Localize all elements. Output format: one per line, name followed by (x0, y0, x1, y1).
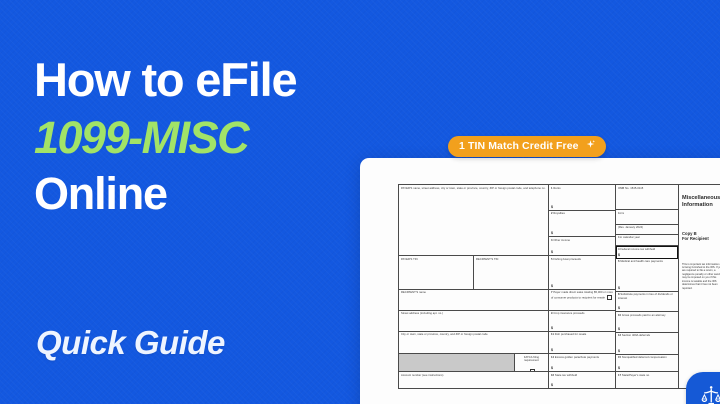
box-11-label: Fish purchased for resale (555, 333, 587, 336)
box-3-currency: $ (551, 250, 553, 254)
box-5-fishing-boat-proceeds[interactable]: 5 Fishing boat proceeds $ (549, 256, 615, 290)
box-16-number: 16 (551, 374, 554, 377)
headline-line-3: Online (34, 171, 394, 216)
box-12-number: 12 (618, 334, 621, 337)
payer-block-label: PAYER'S name, street address, city or to… (401, 187, 546, 190)
headline-line-1: How to eFile (34, 56, 394, 103)
form-prefix-label: Form (618, 212, 676, 215)
recipient-tin-label: RECIPIENT'S TIN (476, 258, 546, 261)
box-15-nonqualified-deferred-comp[interactable]: 15 Nonqualified deferred compensation $ (616, 355, 678, 373)
box-4-label: Federal income tax withheld (620, 248, 655, 251)
payer-tin-label: PAYER'S TIN (401, 258, 471, 261)
for-recipient-label: For Recipient (682, 236, 720, 241)
city-line-label: City or town, state or province, country… (401, 333, 546, 336)
payer-tin-cell[interactable]: PAYER'S TIN (399, 256, 474, 289)
recipient-tin-cell[interactable]: RECIPIENT'S TIN (474, 256, 548, 289)
box-9-crop-insurance[interactable]: 9 Crop insurance proceeds $ (549, 311, 615, 332)
street-address-label: Street address (including apt. no.) (401, 312, 546, 315)
box-5-label: Fishing boat proceeds (553, 258, 581, 261)
revision-label: (Rev. January 2024) (618, 226, 676, 229)
box-3-other-income[interactable]: 3 Other income $ (549, 237, 615, 256)
box-9-currency: $ (551, 326, 553, 330)
tin-match-credit-badge[interactable]: 1 TIN Match Credit Free (448, 136, 606, 157)
form-1099-misc: PAYER'S name, street address, city or to… (398, 184, 720, 394)
box-5-currency: $ (551, 284, 553, 288)
recipient-name-label: RECIPIENT'S name (401, 291, 546, 294)
sparkle-icon (586, 140, 595, 152)
box-6-label: Medical and health care payments (620, 260, 663, 263)
notice-stack: Miscellaneous Information Copy B For Rec… (679, 185, 720, 291)
box-15-label: Nonqualified deferred compensation (622, 356, 667, 359)
box-14-currency: $ (551, 366, 553, 370)
street-address-cell[interactable]: Street address (including apt. no.) (399, 311, 548, 332)
box-7-direct-sales[interactable]: 7 Payer made direct sales totaling $5,00… (549, 290, 615, 311)
badge-label: 1 TIN Match Credit Free (459, 140, 579, 152)
form-column-right: OMB No. 1545-0115 Form 1099-MISC (Rev. J… (616, 185, 679, 388)
account-number-cell[interactable]: Account number (see instructions) (399, 372, 548, 388)
box-8-label: Substitute payments in lieu of dividends… (618, 293, 673, 299)
box-11-fish-purchased[interactable]: 11 Fish purchased for resale $ (549, 332, 615, 355)
box-10-number: 10 (618, 314, 621, 317)
miscellaneous-information-title: Miscellaneous Information (682, 195, 720, 209)
headline-line-2-form-number: 1099-MISC (34, 115, 394, 160)
box-7-label: Payer made direct sales totaling $5,000 … (551, 291, 613, 299)
box-2-currency: $ (551, 231, 553, 235)
box-10-label: Gross proceeds paid to an attorney (622, 314, 666, 317)
box-7-checkbox[interactable] (607, 295, 612, 300)
form-column-middle: 1 Rents $ 2 Royalties $ 3 Other income $ (549, 185, 616, 388)
subtitle-quick-guide: Quick Guide (36, 324, 225, 362)
box-14-label: Excess golden parachute payments (555, 356, 599, 359)
tin-row: PAYER'S TIN RECIPIENT'S TIN (399, 256, 548, 290)
box-16-state-tax-withheld[interactable]: 16 State tax withheld $ (549, 372, 615, 388)
city-state-zip-cell[interactable]: City or town, state or province, country… (399, 332, 548, 355)
box-14-golden-parachute[interactable]: 14 Excess golden parachute payments $ (549, 354, 615, 372)
recipient-notice-text: This is important tax information and is… (682, 263, 720, 291)
box-11-currency: $ (551, 348, 553, 352)
box-4-federal-income-tax-withheld[interactable]: 4 Federal income tax withheld $ (616, 246, 678, 259)
calendar-year-cell[interactable]: For calendar year (616, 235, 678, 247)
recipient-name-cell[interactable]: RECIPIENT'S name (399, 290, 548, 311)
box-10-attorney-proceeds[interactable]: 10 Gross proceeds paid to an attorney $ (616, 312, 678, 332)
box-15-number: 15 (618, 356, 621, 359)
box-6-currency: $ (618, 286, 620, 290)
box-16-label: State tax withheld (555, 374, 577, 377)
shaded-filler (399, 354, 514, 371)
irs-seal-logo (686, 372, 720, 404)
box-8-substitute-payments[interactable]: 8 Substitute payments in lieu of dividen… (616, 292, 678, 312)
box-8-currency: $ (618, 306, 620, 310)
box-10-currency: $ (618, 327, 620, 331)
form-grid: PAYER'S name, street address, city or to… (398, 184, 720, 389)
box-12-label: Section 409A deferrals (622, 334, 650, 337)
box-6-medical-health-payments[interactable]: 6 Medical and health care payments $ (616, 259, 678, 292)
calendar-year-label: For calendar year (618, 236, 676, 239)
box-4-currency: $ (618, 253, 620, 257)
form-number-cell: Form 1099-MISC (616, 210, 678, 225)
irs-eagle-scales-icon (693, 379, 720, 404)
box-15-currency: $ (618, 366, 620, 370)
box-17-state-payer-state-no[interactable]: 17 State/Payer's state no. (616, 372, 678, 388)
fatca-label: FATCA filing requirement (517, 356, 546, 363)
box-2-label: Royalties (553, 212, 565, 215)
box-1-label: Rents (553, 187, 560, 190)
payer-info-cell[interactable]: PAYER'S name, street address, city or to… (399, 185, 548, 256)
box-9-label: Crop insurance proceeds (553, 312, 584, 315)
irs-seal-disc (686, 372, 720, 404)
form-1099-misc-card[interactable]: PAYER'S name, street address, city or to… (360, 158, 720, 404)
headline-block: How to eFile 1099-MISC Online (34, 56, 394, 216)
box-12-currency: $ (618, 349, 620, 353)
box-16-currency: $ (551, 383, 553, 387)
box-1-currency: $ (551, 205, 553, 209)
box-2-royalties[interactable]: 2 Royalties $ (549, 211, 615, 238)
poster-canvas: How to eFile 1099-MISC Online Quick Guid… (0, 0, 720, 404)
box-17-number: 17 (618, 374, 621, 377)
box-14-number: 14 (551, 356, 554, 359)
box-11-number: 11 (551, 333, 554, 336)
fatca-cell[interactable]: FATCA filing requirement (514, 354, 548, 371)
box-12-section-409a-deferrals[interactable]: 12 Section 409A deferrals $ (616, 333, 678, 355)
box-3-label: Other income (553, 239, 570, 242)
revision-cell: (Rev. January 2024) (616, 225, 678, 235)
account-number-label: Account number (see instructions) (401, 374, 546, 377)
omb-label: OMB No. 1545-0115 (618, 187, 676, 190)
box-1-rents[interactable]: 1 Rents $ (549, 185, 615, 211)
form-column-left: PAYER'S name, street address, city or to… (399, 185, 549, 388)
box-17-label: State/Payer's state no. (622, 374, 650, 377)
fatca-row: FATCA filing requirement (399, 354, 548, 372)
omb-cell: OMB No. 1545-0115 (616, 185, 678, 210)
form-column-notice: Miscellaneous Information Copy B For Rec… (679, 185, 720, 388)
